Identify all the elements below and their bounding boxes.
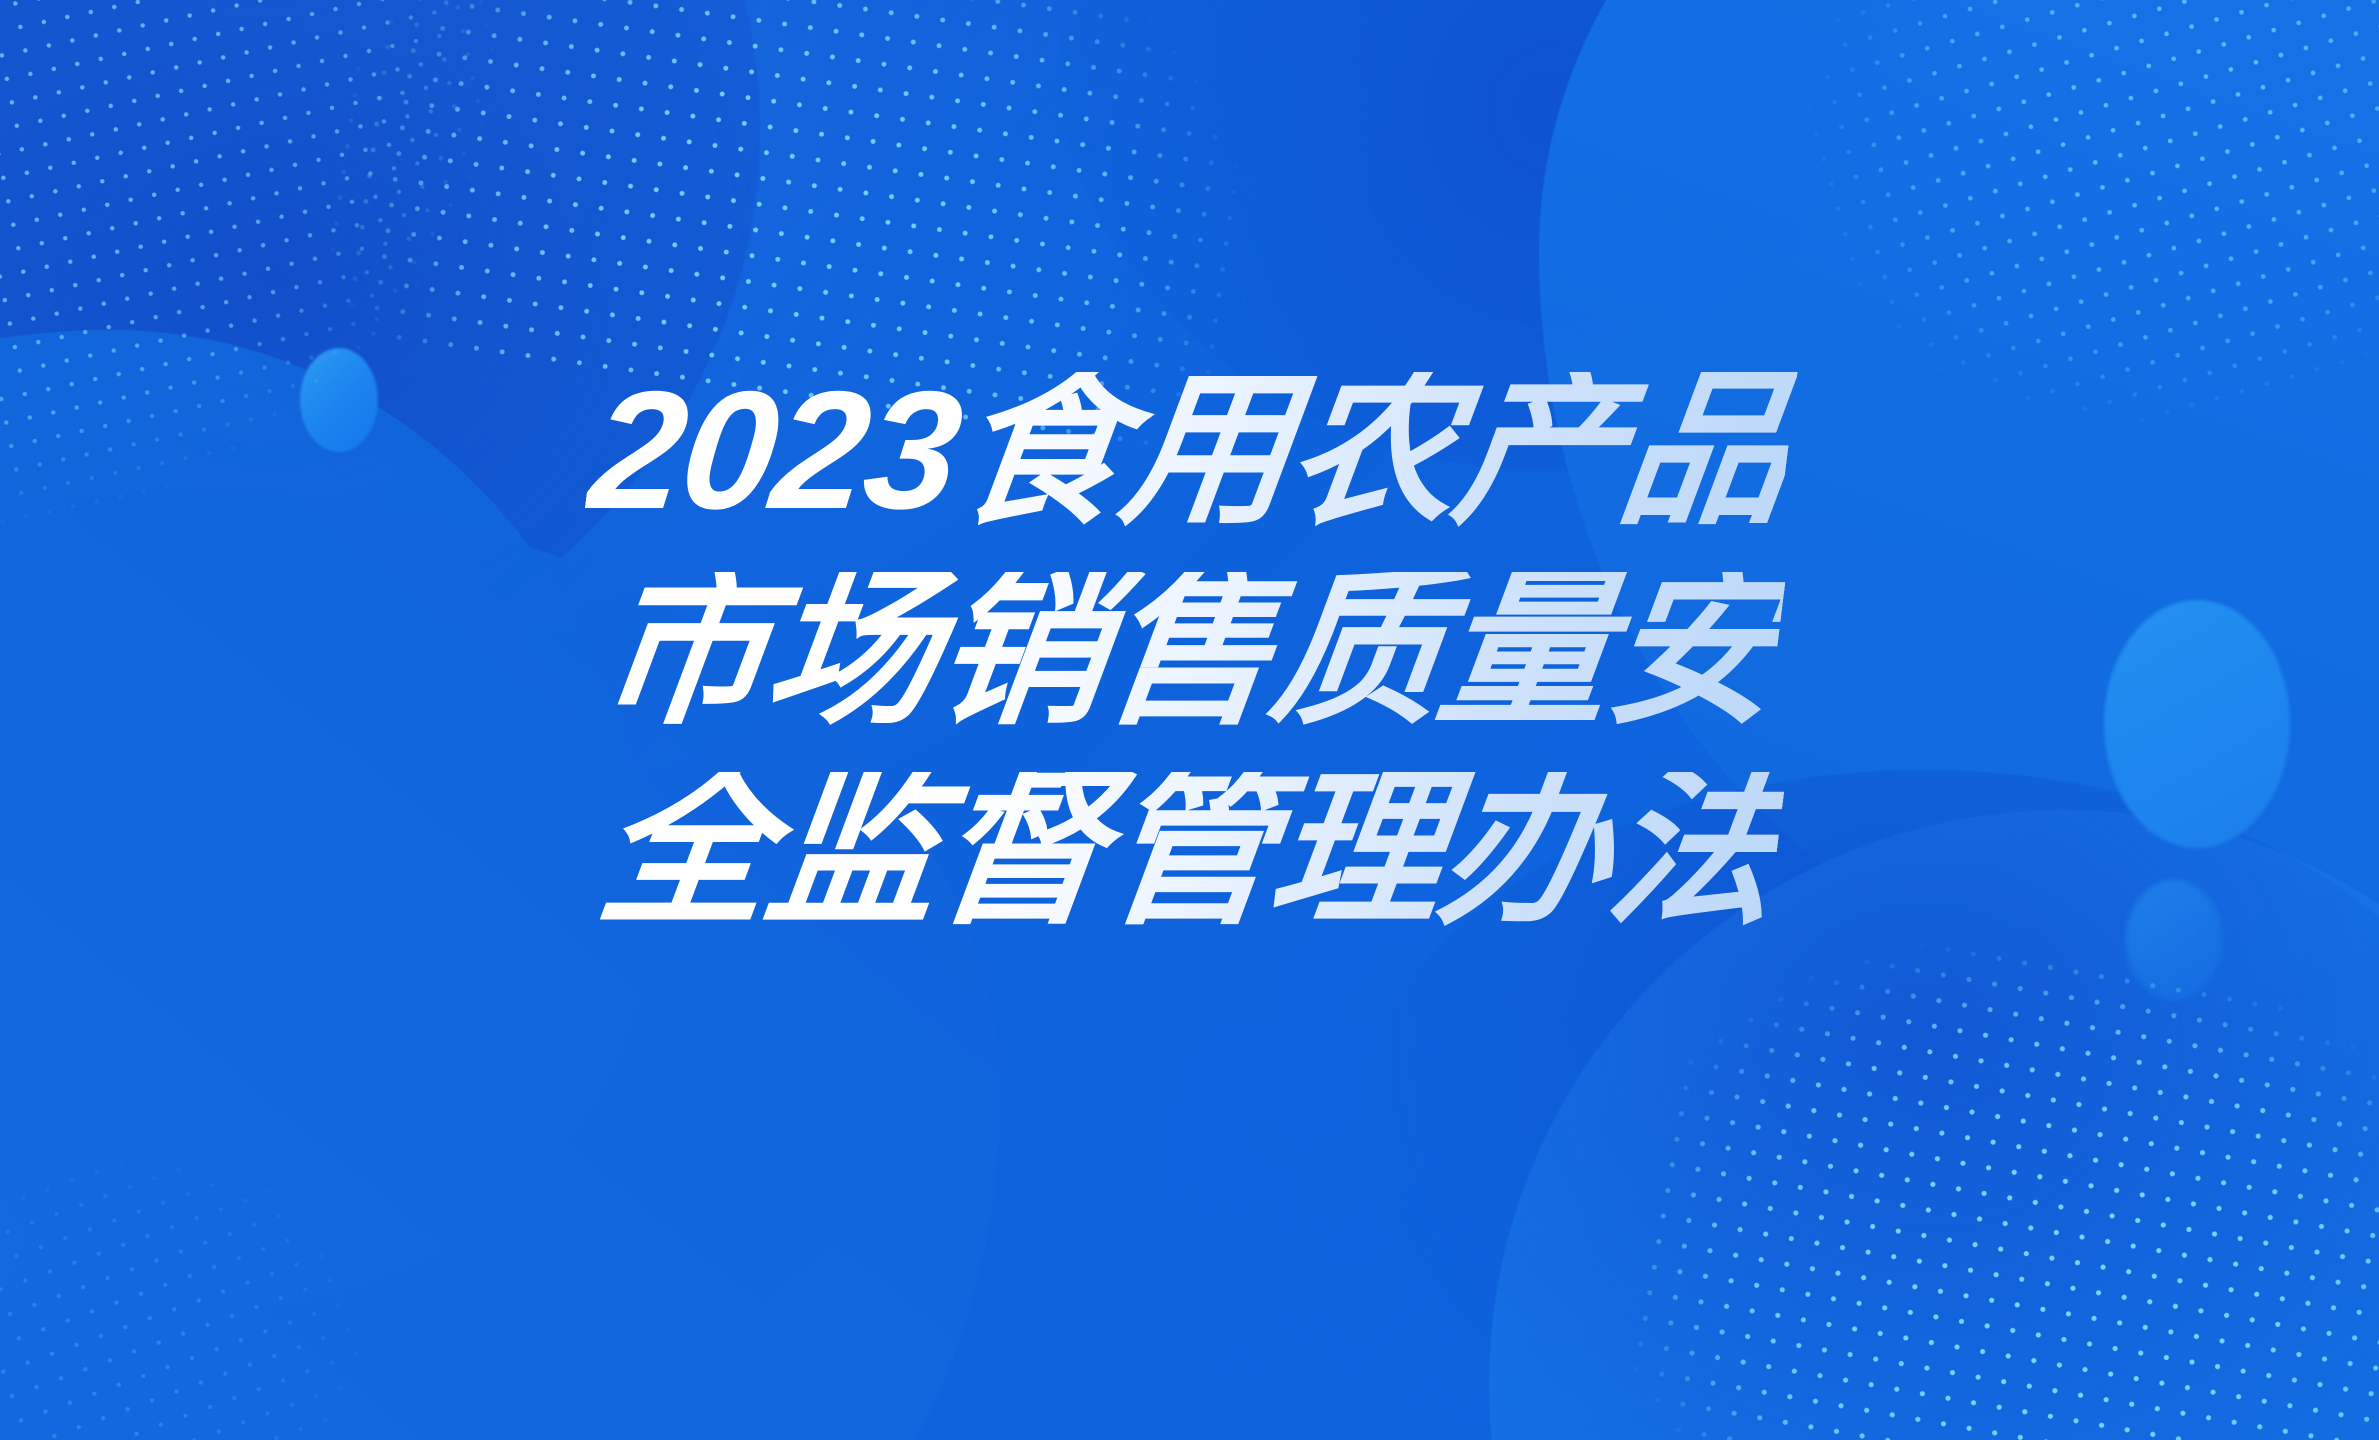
- poster-canvas: 2023食用农产品 市场销售质量安 全监督管理办法: [0, 0, 2379, 1440]
- title-line-2: 市场销售质量安: [592, 572, 1787, 728]
- title-line-3: 全监督管理办法: [592, 772, 1787, 928]
- title-line-1: 2023食用农产品: [582, 372, 1797, 528]
- page-title: 2023食用农产品 市场销售质量安 全监督管理办法: [0, 372, 2379, 928]
